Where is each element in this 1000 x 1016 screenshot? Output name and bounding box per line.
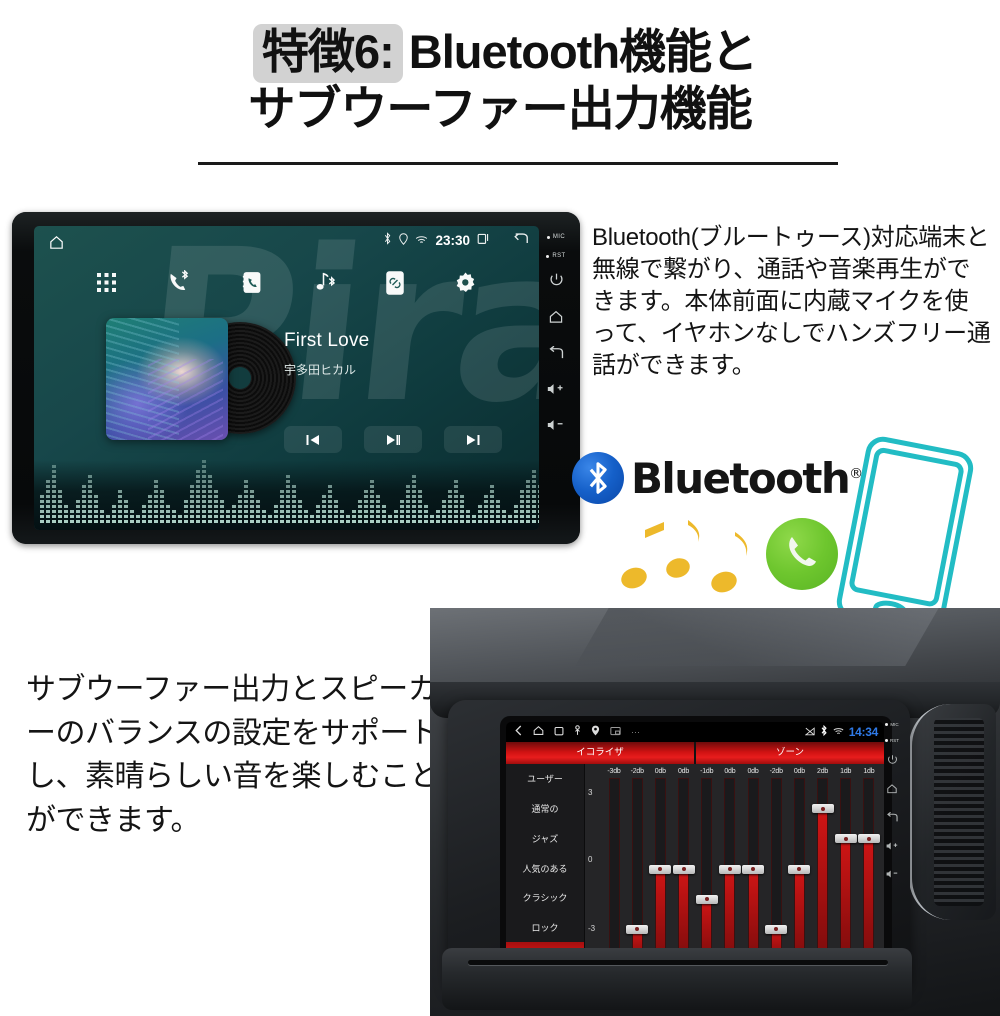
spectrum-column [526, 480, 530, 523]
spectrum-column [256, 500, 260, 523]
audio-spectrum-visualizer [34, 460, 539, 530]
status-bar-right: 23:30 [383, 232, 529, 248]
spectrum-column [454, 480, 458, 523]
music-note-icon [620, 516, 770, 596]
spectrum-column [298, 500, 302, 523]
spectrum-column [310, 515, 314, 523]
eq-tab-1[interactable]: ゾーン [694, 742, 884, 764]
eq-body: ユーザー通常のジャズ人気のあるクラシックロックニュース 3 0 -3 -3db6… [506, 764, 884, 972]
back-icon[interactable] [548, 346, 565, 362]
spectrum-column [124, 500, 128, 523]
location-icon[interactable] [591, 723, 600, 741]
spectrum-column [154, 480, 158, 523]
spectrum-column [496, 500, 500, 523]
home-icon[interactable] [48, 234, 65, 256]
recents-icon[interactable] [477, 232, 490, 248]
head-unit-side-buttons: MIC RST [538, 228, 574, 528]
scale-label-mid: 0 [588, 855, 592, 864]
eq-status-time: 14:34 [849, 725, 878, 739]
spectrum-column [508, 515, 512, 523]
eq-band[interactable]: -3db60HZ [603, 764, 625, 972]
spectrum-column [514, 505, 518, 523]
dashboard-seam [468, 960, 888, 965]
track-title: First Love [284, 330, 369, 352]
spectrum-column [76, 500, 80, 523]
spectrum-column [190, 485, 194, 523]
title-line1-text: Bluetooth機能と [409, 25, 757, 78]
eq-band-track[interactable] [632, 778, 643, 961]
spectrum-column [166, 505, 170, 523]
volume-up-icon[interactable] [886, 841, 899, 852]
eq-band-knob[interactable] [835, 834, 857, 843]
spectrum-column [346, 515, 350, 523]
track-artist: 宇多田ヒカル [284, 361, 369, 378]
recents-icon[interactable] [554, 723, 564, 741]
eq-band[interactable]: 2db10KHZ [812, 764, 834, 972]
bluetooth-icon [572, 452, 624, 504]
eq-preset-list: ユーザー通常のジャズ人気のあるクラシックロックニュース [506, 764, 585, 972]
eq-band-value: 0db [794, 768, 805, 775]
eq-band-knob[interactable] [696, 895, 718, 904]
eq-status-right: 14:34 [805, 722, 878, 742]
home-icon[interactable] [548, 309, 564, 326]
spectrum-column [196, 470, 200, 523]
bluetooth-call-icon[interactable] [166, 270, 191, 300]
eq-preset-0[interactable]: ユーザー [506, 764, 584, 794]
spectrum-column [520, 490, 524, 523]
back-icon[interactable] [514, 723, 523, 741]
app-grid-icon[interactable] [96, 272, 117, 298]
eq-band-value: -2db [770, 768, 783, 775]
eq-band-fill [656, 870, 665, 961]
settings-gear-icon[interactable] [454, 271, 477, 299]
playback-controls [284, 426, 502, 453]
eq-band-track[interactable] [840, 778, 851, 961]
eq-band[interactable]: 0db7.5KHZ [788, 764, 810, 972]
phone-handset-icon [782, 532, 822, 577]
eq-band[interactable]: 0db1KHZ [719, 764, 741, 972]
eq-band-fill [679, 870, 688, 961]
spectrum-column [130, 510, 134, 523]
mic-indicator: MIC [547, 234, 565, 240]
eq-band-fill [864, 839, 873, 960]
eq-band-knob[interactable] [812, 804, 834, 813]
eq-band-track[interactable] [678, 778, 689, 961]
split-screen-icon[interactable] [610, 723, 621, 741]
eq-band-knob[interactable] [673, 865, 695, 874]
eq-band-value: -2db [631, 768, 644, 775]
eq-band-track[interactable] [794, 778, 805, 961]
eq-band[interactable]: -2db80HZ [626, 764, 648, 972]
eq-band-knob[interactable] [742, 865, 764, 874]
eq-band-track[interactable] [748, 778, 759, 961]
spectrum-column [40, 495, 44, 523]
previous-button[interactable] [284, 426, 342, 453]
spectrum-column [436, 510, 440, 523]
wifi-icon [833, 723, 844, 741]
eq-band-fill [818, 809, 827, 960]
power-icon[interactable] [887, 754, 898, 766]
eq-band-value: 1db [863, 768, 874, 775]
bluetooth-music-icon[interactable] [311, 270, 336, 300]
spectrum-column [112, 505, 116, 523]
mic-icon[interactable] [574, 723, 581, 741]
next-button[interactable] [444, 426, 502, 453]
phone-call-badge [766, 518, 838, 590]
eq-tab-0[interactable]: イコライザ [506, 742, 694, 764]
spectrum-column [70, 510, 74, 523]
wifi-icon [415, 233, 428, 248]
spectrum-column [442, 500, 446, 523]
subwoofer-description: サブウーファー出力とスピーカーのバランスの設定をサポートし、素晴らしい音を楽しむ… [26, 668, 446, 842]
signal-off-icon [805, 723, 815, 741]
volume-down-icon[interactable] [886, 869, 899, 880]
eq-band-value: -3db [607, 768, 620, 775]
dashboard-lower-panel [442, 948, 912, 1010]
bluetooth-description: Bluetooth(ブルートゥース)対応端末と無線で繋がり、通話や音楽再生ができ… [592, 222, 992, 382]
spectrum-column [448, 490, 452, 523]
spectrum-column [232, 505, 236, 523]
spectrum-column [160, 490, 164, 523]
eq-status-bar: ··· 14:34 [506, 722, 884, 742]
scale-label-top: 3 [588, 788, 592, 797]
eq-band-knob[interactable] [649, 865, 671, 874]
eq-band-value: 0db [724, 768, 735, 775]
spectrum-column [364, 490, 368, 523]
eq-graph[interactable]: 3 0 -3 -3db60HZ-2db80HZ0db100HZ0db120HZ-… [585, 764, 884, 972]
eq-band[interactable]: -2db2KHZ [765, 764, 787, 972]
eq-band-track[interactable] [771, 778, 782, 961]
phone-link-icon[interactable] [385, 271, 405, 300]
spectrum-column [58, 490, 62, 523]
spectrum-column [466, 510, 470, 523]
eq-band-value: 1db [840, 768, 851, 775]
eq-preset-4[interactable]: クラシック [506, 883, 584, 913]
eq-preset-2[interactable]: ジャズ [506, 823, 584, 853]
spectrum-column [388, 515, 392, 523]
eq-unit-side-buttons: MIC RST [878, 718, 906, 976]
spectrum-column [376, 495, 380, 523]
title-divider [198, 162, 838, 165]
spectrum-column [538, 485, 539, 523]
spectrum-column [334, 500, 338, 523]
eq-band-knob[interactable] [765, 925, 787, 934]
spectrum-column [412, 475, 416, 523]
spectrum-column [244, 480, 248, 523]
spectrum-column [292, 485, 296, 523]
spectrum-column [142, 505, 146, 523]
eq-band-knob[interactable] [858, 834, 880, 843]
page-title: 特徴6:Bluetooth機能と サブウーファー出力機能 [0, 24, 1000, 135]
spectrum-column [340, 510, 344, 523]
home-icon[interactable] [886, 783, 898, 795]
eq-preset-1[interactable]: 通常の [506, 794, 584, 824]
contacts-icon[interactable] [240, 271, 263, 299]
play-pause-button[interactable] [364, 426, 422, 453]
eq-band[interactable]: 0db120HZ [673, 764, 695, 972]
eq-band[interactable]: 1db12.5KHZ [835, 764, 857, 972]
spectrum-column [220, 500, 224, 523]
eq-band-track[interactable] [724, 778, 735, 961]
spectrum-column [268, 515, 272, 523]
volume-down-icon[interactable] [547, 418, 565, 434]
bluetooth-brand-logo: Bluetooth® [572, 452, 862, 504]
eq-preset-5[interactable]: ロック [506, 913, 584, 943]
eq-band-fill [795, 870, 804, 961]
spectrum-column [118, 490, 122, 523]
eq-band-track[interactable] [609, 778, 620, 961]
head-unit-device: Pira 23:30 [12, 212, 580, 544]
eq-band-knob[interactable] [719, 865, 741, 874]
rst-indicator[interactable]: RST [546, 253, 565, 259]
more-icon[interactable]: ··· [631, 728, 640, 737]
spectrum-column [502, 510, 506, 523]
spectrum-column [328, 485, 332, 523]
eq-band[interactable]: 0db100HZ [649, 764, 671, 972]
status-time: 23:30 [435, 233, 470, 248]
spectrum-column [46, 480, 50, 523]
spectrum-column [226, 510, 230, 523]
spectrum-column [532, 470, 536, 523]
eq-band-value: 0db [678, 768, 689, 775]
eq-band-track[interactable] [701, 778, 712, 961]
bluetooth-icon [383, 232, 392, 248]
home-icon[interactable] [533, 723, 544, 741]
mic-indicator: MIC [885, 722, 898, 727]
spectrum-column [94, 495, 98, 523]
spectrum-column [280, 490, 284, 523]
eq-band-value: 0db [655, 768, 666, 775]
back-icon[interactable] [886, 812, 899, 824]
bluetooth-icon [820, 723, 828, 741]
eq-band-track[interactable] [863, 778, 874, 961]
spectrum-column [358, 500, 362, 523]
spectrum-column [184, 500, 188, 523]
spectrum-column [400, 500, 404, 523]
spectrum-column [382, 505, 386, 523]
eq-band[interactable]: 1db15KHZ [858, 764, 880, 972]
spectrum-column [100, 510, 104, 523]
car-interior-photo: ··· 14:34 イコライザゾーン ユーザー通常のジャズ人気のあるクラシックロ… [430, 608, 1000, 1016]
app-launcher-row [34, 270, 539, 300]
rst-indicator[interactable]: RST [885, 738, 899, 743]
eq-band-track[interactable] [817, 778, 828, 961]
feature-badge: 特徴6: [253, 24, 403, 83]
eq-band-fill [725, 870, 734, 961]
spectrum-column [484, 495, 488, 523]
eq-band-fill [749, 870, 758, 961]
spectrum-column [64, 505, 68, 523]
eq-band-knob[interactable] [626, 925, 648, 934]
equalizer-screen[interactable]: ··· 14:34 イコライザゾーン ユーザー通常のジャズ人気のあるクラシックロ… [506, 722, 884, 972]
android-nav-icons: ··· [506, 723, 640, 741]
eq-band-fill [841, 839, 850, 960]
eq-preset-3[interactable]: 人気のある [506, 853, 584, 883]
air-vent [909, 704, 996, 920]
spectrum-column [250, 490, 254, 523]
spectrum-column [322, 495, 326, 523]
scale-label-bottom: -3 [588, 924, 595, 933]
spectrum-column [172, 510, 176, 523]
eq-tab-bar: イコライザゾーン [506, 742, 884, 764]
spectrum-column [418, 490, 422, 523]
eq-band[interactable]: -1db500HZ [696, 764, 718, 972]
dashboard-fold [575, 608, 955, 666]
spectrum-column [286, 475, 290, 523]
spectrum-column [52, 465, 56, 523]
spectrum-column [136, 515, 140, 523]
now-playing-info: First Love 宇多田ヒカル [284, 330, 369, 378]
eq-band-value: -1db [700, 768, 713, 775]
spectrum-column [424, 505, 428, 523]
spectrum-column [148, 495, 152, 523]
eq-scale-labels: 3 0 -3 [588, 764, 602, 972]
music-notes-graphic [620, 516, 770, 596]
title-line2-text: サブウーファー出力機能 [0, 83, 1000, 136]
spectrum-column [178, 515, 182, 523]
spectrum-column [88, 475, 92, 523]
spectrum-column [430, 515, 434, 523]
bluetooth-wordmark: Bluetooth® [631, 454, 862, 503]
spectrum-column [238, 495, 242, 523]
spectrum-column [262, 510, 266, 523]
spectrum-column [274, 505, 278, 523]
spectrum-column [490, 485, 494, 523]
eq-band-value: 0db [747, 768, 758, 775]
spectrum-column [472, 515, 476, 523]
spectrum-column [208, 475, 212, 523]
power-icon[interactable] [549, 272, 564, 289]
album-art [106, 318, 228, 440]
eq-band-track[interactable] [655, 778, 666, 961]
back-icon[interactable] [513, 232, 529, 248]
eq-band-value: 2db [817, 768, 828, 775]
spectrum-column [82, 485, 86, 523]
spectrum-column [406, 485, 410, 523]
spectrum-column [478, 505, 482, 523]
spectrum-column [106, 515, 110, 523]
spectrum-column [304, 510, 308, 523]
spectrum-column [370, 480, 374, 523]
spectrum-column [394, 510, 398, 523]
spectrum-column [316, 505, 320, 523]
eq-band-sliders: -3db60HZ-2db80HZ0db100HZ0db120HZ-1db500H… [603, 764, 880, 972]
spectrum-column [214, 490, 218, 523]
volume-up-icon[interactable] [547, 382, 565, 398]
spectrum-column [460, 495, 464, 523]
status-bar: 23:30 [34, 232, 539, 254]
location-icon [399, 233, 408, 248]
eq-band-knob[interactable] [788, 865, 810, 874]
spectrum-column [352, 510, 356, 523]
head-unit-screen[interactable]: Pira 23:30 [34, 226, 539, 530]
spectrum-column [202, 460, 206, 523]
eq-band[interactable]: 0db1.5KHZ [742, 764, 764, 972]
